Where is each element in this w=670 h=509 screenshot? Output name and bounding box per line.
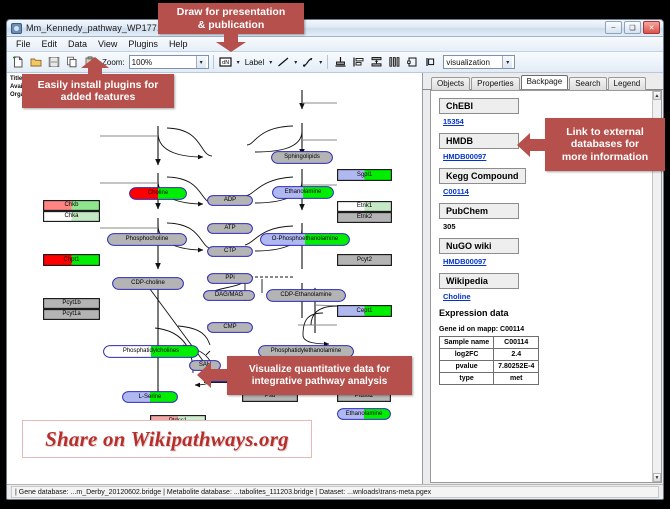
- menu-bar: File Edit Data View Plugins Help: [7, 37, 663, 52]
- db-header-kegg: Kegg Compound: [439, 168, 526, 184]
- toolbar-separator: [213, 55, 214, 69]
- cell-key: log2FC: [440, 349, 494, 361]
- metabolite-node[interactable]: [266, 289, 346, 302]
- callout-links-arrow-icon: [516, 132, 548, 158]
- align-left-icon[interactable]: [350, 54, 366, 70]
- db-header-wikipedia: Wikipedia: [439, 273, 519, 289]
- scroll-down-icon[interactable]: ▼: [653, 473, 661, 482]
- menu-file[interactable]: File: [11, 38, 36, 50]
- gene-id-on-mapp: Gene id on mapp: C00114: [439, 326, 652, 333]
- interaction-dropdown-icon[interactable]: ▾: [319, 59, 322, 66]
- zoom-combo[interactable]: 100% ▾: [129, 55, 209, 69]
- expression-table: Sample name C00114 log2FC 2.4 pvalue 7.8…: [439, 336, 539, 385]
- menu-view[interactable]: View: [93, 38, 122, 50]
- share-banner: Share on Wikipathways.org: [22, 420, 312, 458]
- metabolite-node[interactable]: [207, 322, 253, 333]
- align-icon[interactable]: [332, 54, 348, 70]
- metabolite-node[interactable]: [107, 233, 187, 246]
- group-icon[interactable]: [404, 54, 420, 70]
- status-text: | Gene database: ...m_Derby_20120602.bri…: [11, 486, 659, 498]
- callout-draw-text: Draw for presentation& publication: [177, 6, 286, 31]
- table-row: pvalue 7.80252E-4: [440, 361, 539, 373]
- callout-links: Link to externaldatabases formore inform…: [545, 118, 665, 171]
- callout-viz-arrow-icon: [196, 360, 230, 390]
- metabolite-node[interactable]: [337, 408, 391, 420]
- table-row: type met: [440, 373, 539, 385]
- visualization-combo[interactable]: visualization ▾: [443, 55, 515, 69]
- metabolite-node[interactable]: [112, 277, 184, 290]
- db-header-chebi: ChEBI: [439, 98, 519, 114]
- metabolite-node[interactable]: [129, 187, 187, 200]
- stack-icon[interactable]: [368, 54, 384, 70]
- zoom-value: 100%: [132, 58, 196, 67]
- gene-node[interactable]: [43, 298, 100, 309]
- metabolite-node[interactable]: [260, 233, 350, 246]
- db-header-nugowiki: NuGO wiki: [439, 238, 519, 254]
- metabolite-node[interactable]: [271, 151, 333, 164]
- menu-data[interactable]: Data: [63, 38, 92, 50]
- metabolite-node[interactable]: [207, 246, 253, 257]
- new-icon[interactable]: [10, 54, 26, 70]
- cell-value: met: [494, 373, 539, 385]
- tab-objects[interactable]: Objects: [431, 77, 470, 90]
- share-banner-text: Share on Wikipathways.org: [45, 427, 289, 452]
- open-folder-icon[interactable]: [28, 54, 44, 70]
- cell-value: C00114: [494, 337, 539, 349]
- cell-value: 7.80252E-4: [494, 361, 539, 373]
- callout-plugins-text: Easily install plugins foradded features: [38, 79, 159, 104]
- app-logo-icon: [11, 23, 22, 34]
- gene-node[interactable]: [43, 211, 100, 222]
- status-bar: | Gene database: ...m_Derby_20120602.bri…: [7, 484, 663, 499]
- db-link-wikipedia[interactable]: Choline: [443, 292, 652, 301]
- metabolite-node[interactable]: [103, 345, 199, 358]
- expression-data-title: Expression data: [439, 308, 652, 318]
- maximize-button[interactable]: ❑: [624, 21, 641, 34]
- tab-properties[interactable]: Properties: [471, 77, 519, 90]
- table-row: log2FC 2.4: [440, 349, 539, 361]
- callout-viz: Visualize quantitative data forintegrati…: [227, 356, 412, 395]
- gene-node[interactable]: [337, 254, 392, 266]
- gene-node[interactable]: [43, 309, 100, 320]
- line-icon[interactable]: [275, 54, 291, 70]
- label-dropdown-icon[interactable]: ▾: [269, 59, 272, 66]
- cell-key: type: [440, 373, 494, 385]
- metabolite-node[interactable]: [203, 290, 255, 301]
- callout-plugins: Easily install plugins foradded features: [22, 74, 174, 108]
- callout-links-text: Link to externaldatabases formore inform…: [562, 126, 648, 163]
- line-dropdown-icon[interactable]: ▾: [294, 59, 297, 66]
- svg-text:dN: dN: [222, 60, 230, 66]
- menu-edit[interactable]: Edit: [37, 38, 63, 50]
- save-icon[interactable]: [46, 54, 62, 70]
- metabolite-node[interactable]: [122, 391, 178, 403]
- visualization-value: visualization: [446, 58, 502, 67]
- menu-help[interactable]: Help: [164, 38, 193, 50]
- distribute-icon[interactable]: [386, 54, 402, 70]
- tab-search[interactable]: Search: [569, 77, 606, 90]
- gene-node[interactable]: [337, 212, 392, 223]
- gene-node[interactable]: [337, 201, 392, 212]
- interaction-icon[interactable]: [300, 54, 316, 70]
- callout-viz-text: Visualize quantitative data forintegrati…: [249, 364, 390, 388]
- metabolite-node[interactable]: [207, 273, 253, 284]
- datanode-dropdown-icon[interactable]: ▾: [237, 59, 240, 66]
- title-bar: Mm_Kennedy_pathway_WP1771_45176.gpml – ❑…: [7, 20, 663, 37]
- side-panel-tabs: Objects Properties Backpage Search Legen…: [423, 73, 663, 90]
- close-button[interactable]: ✕: [643, 21, 660, 34]
- toolbar-separator-2: [327, 55, 328, 69]
- menu-plugins[interactable]: Plugins: [123, 38, 163, 50]
- window-controls: – ❑ ✕: [605, 21, 660, 34]
- db-link-kegg[interactable]: C00114: [443, 187, 652, 196]
- db-link-nugowiki[interactable]: HMDB00097: [443, 257, 652, 266]
- metabolite-node[interactable]: [207, 195, 253, 206]
- gene-node[interactable]: [337, 169, 392, 181]
- gene-node[interactable]: [337, 305, 392, 317]
- callout-draw: Draw for presentation& publication: [158, 3, 304, 34]
- tab-legend[interactable]: Legend: [608, 77, 647, 90]
- db-header-hmdb: HMDB: [439, 133, 519, 149]
- table-row: Sample name C00114: [440, 337, 539, 349]
- tab-backpage[interactable]: Backpage: [521, 75, 569, 89]
- gene-node[interactable]: [43, 254, 100, 266]
- callout-plugins-arrow-icon: [80, 56, 110, 76]
- ungroup-icon[interactable]: [422, 54, 438, 70]
- gene-node[interactable]: [43, 200, 100, 211]
- chevron-down-icon[interactable]: ▾: [196, 56, 206, 68]
- db-header-pubchem: PubChem: [439, 203, 519, 219]
- metabolite-node[interactable]: [207, 223, 253, 234]
- datanode-icon[interactable]: dN: [218, 54, 234, 70]
- label-tool-label[interactable]: Label: [245, 58, 265, 67]
- cell-value: 2.4: [494, 349, 539, 361]
- visualization-chevron-down-icon[interactable]: ▾: [502, 56, 512, 68]
- minimize-button[interactable]: –: [605, 21, 622, 34]
- scroll-up-icon[interactable]: ▲: [653, 91, 661, 100]
- cell-key: pvalue: [440, 361, 494, 373]
- copy-icon[interactable]: [64, 54, 80, 70]
- metabolite-node[interactable]: [272, 186, 334, 199]
- callout-draw-arrow-icon: [215, 34, 247, 52]
- db-value-pubchem: 305: [443, 222, 652, 231]
- cell-key: Sample name: [440, 337, 494, 349]
